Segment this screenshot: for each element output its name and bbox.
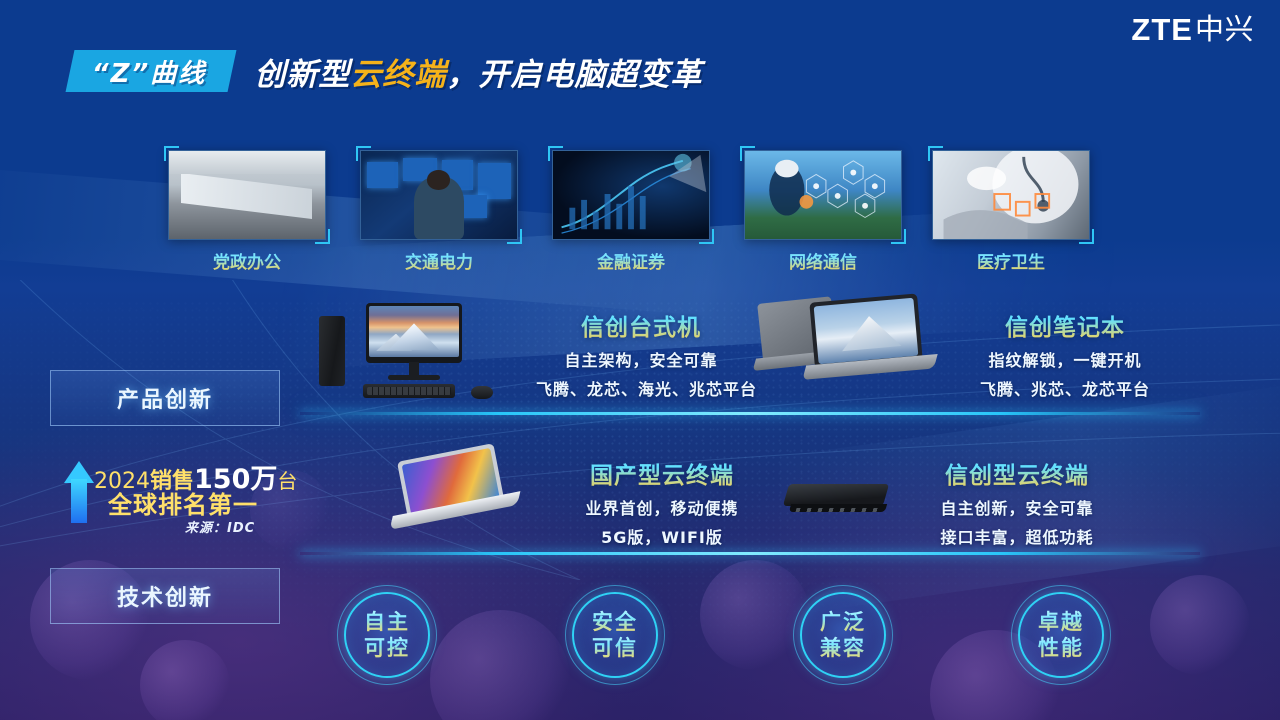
bokeh-circle	[1150, 575, 1250, 675]
industry-card-frame	[168, 150, 326, 240]
finance-chart-photo-icon	[553, 151, 709, 239]
circle-outer-ring	[337, 585, 437, 685]
frame-corner-icon	[740, 146, 755, 161]
section-divider	[300, 412, 1200, 415]
healthcare-photo-icon	[933, 151, 1089, 239]
product-line2: 飞腾、龙芯、海光、兆芯平台	[536, 376, 746, 400]
sales-stat-source: 来源：IDC	[185, 517, 255, 536]
headline-highlight: 云终端	[350, 57, 446, 93]
bokeh-circle	[700, 560, 810, 670]
product-line2: 飞腾、兆芯、龙芯平台	[940, 376, 1190, 400]
industry-card-label: 网络通信	[789, 248, 857, 273]
product-title: 信创型云终端	[902, 456, 1132, 490]
logo-text-cn: 中兴	[1195, 15, 1254, 44]
industry-card-row: 党政办公 交通电力	[0, 150, 1280, 270]
frame-corner-icon	[164, 146, 179, 161]
office-photo-icon	[169, 151, 325, 239]
panel-technology-innovation[interactable]: 技术创新	[50, 568, 280, 624]
slide-canvas: ZTE 中兴 “Z”曲线 创新型云终端，开启电脑超变革 党政办公	[0, 0, 1280, 720]
industry-card-network[interactable]: 网络通信	[744, 150, 902, 240]
industry-card-frame	[932, 150, 1090, 240]
up-arrow-icon	[64, 461, 94, 523]
product-desktop: 信创台式机 自主架构，安全可靠 飞腾、龙芯、海光、兆芯平台	[536, 308, 746, 400]
frame-corner-icon	[507, 229, 522, 244]
product-laptop: 信创笔记本 指纹解锁，一键开机 飞腾、兆芯、龙芯平台	[940, 308, 1190, 400]
circle-outer-ring	[565, 585, 665, 685]
product-line1: 业界首创，移动便携	[552, 495, 772, 519]
sales-stat: 2024销售150万台 全球排名第一 来源：IDC	[50, 455, 300, 550]
headline-tag-label: “Z”曲线	[92, 53, 206, 90]
headline: “Z”曲线 创新型云终端，开启电脑超变革	[0, 47, 702, 95]
sales-stat-rank: 全球排名第一	[108, 485, 258, 520]
product-title: 信创笔记本	[940, 308, 1190, 342]
frame-corner-icon	[356, 146, 371, 161]
cloud-box-icon	[786, 478, 890, 520]
product-line2: 5G版，WIFI版	[552, 524, 772, 548]
panel-technology-innovation-label: 技术创新	[117, 580, 213, 612]
stat-unit-tai: 台	[277, 469, 297, 493]
frame-corner-icon	[891, 229, 906, 244]
industry-card-healthcare[interactable]: 医疗卫生	[932, 150, 1090, 240]
product-line1: 自主创新，安全可靠	[902, 495, 1132, 519]
headline-suffix: ，开启电脑超变革	[446, 57, 702, 93]
feature-circle-autonomy[interactable]: 自主 可控	[344, 592, 430, 678]
frame-corner-icon	[699, 229, 714, 244]
desktop-pc-icon	[305, 300, 535, 400]
feature-circle-performance[interactable]: 卓越 性能	[1018, 592, 1104, 678]
product-title: 信创台式机	[536, 308, 746, 342]
industry-card-government[interactable]: 党政办公	[168, 150, 326, 240]
industry-card-finance[interactable]: 金融证券	[552, 150, 710, 240]
industry-card-frame	[360, 150, 518, 240]
panel-product-innovation[interactable]: 产品创新	[50, 370, 280, 426]
headline-text: 创新型云终端，开启电脑超变革	[254, 49, 702, 94]
industry-card-label: 医疗卫生	[977, 248, 1045, 273]
bokeh-circle	[430, 610, 570, 720]
control-room-photo-icon	[361, 151, 517, 239]
industry-card-frame	[744, 150, 902, 240]
industry-card-label: 党政办公	[213, 248, 281, 273]
feature-circle-security[interactable]: 安全 可信	[572, 592, 658, 678]
product-line2: 接口丰富，超低功耗	[902, 524, 1132, 548]
product-title: 国产型云终端	[552, 456, 772, 490]
laptop-pair-icon	[752, 296, 952, 400]
industry-card-label: 交通电力	[405, 248, 473, 273]
logo-text-en: ZTE	[1131, 14, 1193, 45]
industry-card-label: 金融证券	[597, 248, 665, 273]
section-divider	[300, 552, 1200, 555]
frame-corner-icon	[1079, 229, 1094, 244]
zte-logo: ZTE 中兴	[1131, 14, 1254, 45]
product-cloud-terminal-domestic: 国产型云终端 业界首创，移动便携 5G版，WIFI版	[552, 456, 772, 548]
headline-tag-badge: “Z”曲线	[66, 50, 237, 92]
industry-card-frame	[552, 150, 710, 240]
frame-corner-icon	[315, 229, 330, 244]
network-iot-photo-icon	[745, 151, 901, 239]
product-cloud-terminal-xinchuang: 信创型云终端 自主创新，安全可靠 接口丰富，超低功耗	[902, 456, 1132, 548]
frame-corner-icon	[548, 146, 563, 161]
frame-corner-icon	[928, 146, 943, 161]
feature-circle-compatibility[interactable]: 广泛 兼容	[800, 592, 886, 678]
headline-prefix: 创新型	[254, 57, 350, 93]
circle-outer-ring	[1011, 585, 1111, 685]
cloud-laptop-icon	[382, 452, 542, 532]
product-line1: 指纹解锁，一键开机	[940, 347, 1190, 371]
industry-card-transport-power[interactable]: 交通电力	[360, 150, 518, 240]
product-line1: 自主架构，安全可靠	[536, 347, 746, 371]
panel-product-innovation-label: 产品创新	[117, 382, 213, 414]
bokeh-circle	[140, 640, 230, 720]
circle-outer-ring	[793, 585, 893, 685]
